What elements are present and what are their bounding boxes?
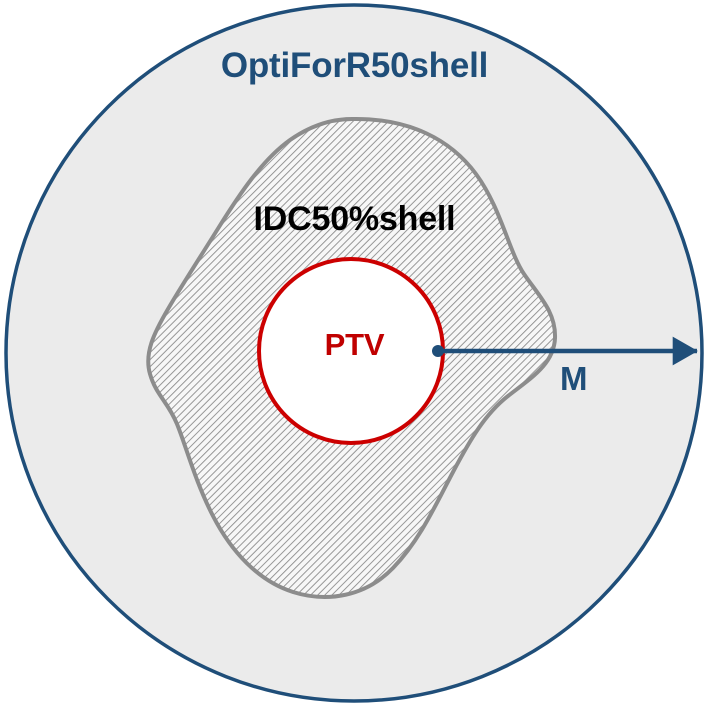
idc50-shell-label: IDC50%shell [0,200,709,239]
diagram-canvas: OptiForR50shell IDC50%shell PTV M [0,0,709,709]
ptv-label: PTV [0,327,709,363]
margin-label: M [560,360,587,398]
outer-shell-label: OptiForR50shell [0,46,709,86]
